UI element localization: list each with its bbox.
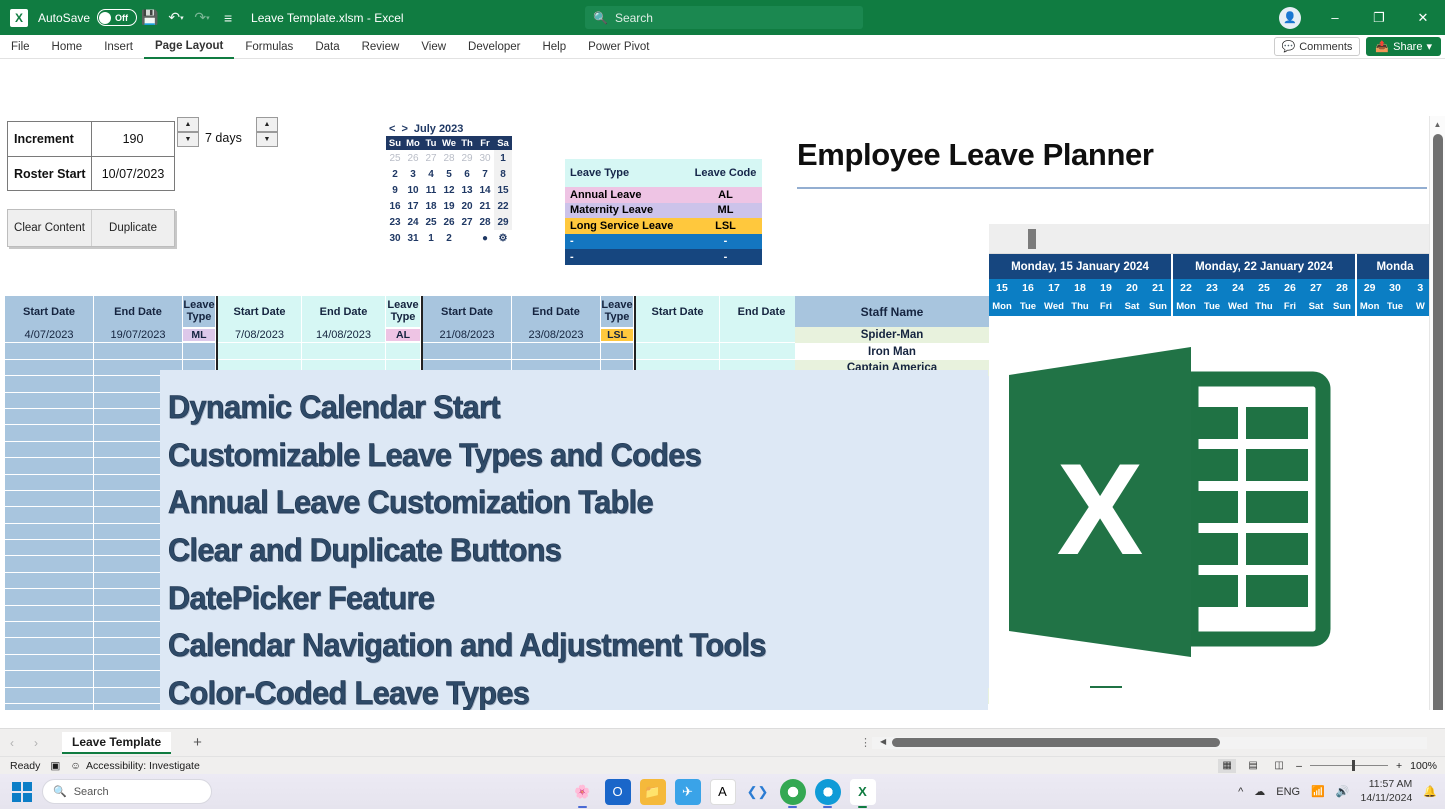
tab-file[interactable]: File: [0, 35, 41, 59]
legend-header-code: Leave Code: [689, 167, 762, 179]
legend-row[interactable]: Annual LeaveAL: [565, 187, 762, 203]
calendar-day-number: 24: [1225, 279, 1251, 298]
date-picker-day[interactable]: 27: [422, 150, 440, 166]
calendar-day-name: Fri: [1093, 298, 1119, 316]
calendar-day-number: 16: [1015, 279, 1041, 298]
calendar-day-name: Thu: [1067, 298, 1093, 316]
dow-fr: Fr: [476, 136, 494, 150]
comments-label: Comments: [1299, 41, 1352, 53]
grid-header-leave-type: LeaveType: [601, 296, 634, 327]
macro-record-icon[interactable]: ▣: [50, 760, 60, 772]
share-icon: 📤: [1375, 40, 1389, 53]
date-picker-day[interactable]: 21: [476, 198, 494, 214]
status-right: ▦ ▤ ◫ – + 100%: [1218, 759, 1437, 773]
date-picker-day[interactable]: 15: [494, 182, 512, 198]
calendar-day-names: MonTueWedThuFriSatSun: [1173, 298, 1355, 316]
excel-icon[interactable]: X: [850, 779, 876, 805]
date-picker-day[interactable]: 12: [440, 182, 458, 198]
accessibility-status[interactable]: ☺ Accessibility: Investigate: [70, 760, 200, 772]
leave-grid-header: Start DateEnd DateLeaveTypeStart DateEnd…: [5, 296, 839, 327]
calendar-day-numbers: 15161718192021: [989, 279, 1171, 298]
title-divider: [797, 187, 1427, 189]
action-buttons: Clear Content Duplicate: [7, 209, 175, 247]
legend-leave-type: Long Service Leave: [565, 220, 689, 232]
grid-row[interactable]: [5, 343, 839, 359]
legend-rows: Annual LeaveALMaternity LeaveMLLong Serv…: [565, 187, 762, 265]
roster-start-value[interactable]: 10/07/2023: [92, 157, 174, 190]
staff-name-row[interactable]: Spider-Man: [795, 327, 989, 343]
calendar-day-name: Mon: [989, 298, 1015, 316]
grid-header-cell: End Date: [720, 296, 804, 327]
date-picker-day[interactable]: 27: [458, 214, 476, 230]
feature-item: Annual Leave Customization Table: [168, 479, 955, 527]
onedrive-icon[interactable]: ☁: [1254, 785, 1265, 798]
feature-item: Color-Coded Leave Types: [168, 670, 955, 710]
grid-cell[interactable]: [5, 491, 94, 507]
grid-cell-leave-type[interactable]: [386, 343, 421, 359]
spinner-down-icon[interactable]: ▼: [256, 132, 278, 147]
grid-header-leave-type: LeaveType: [386, 296, 421, 327]
search-input[interactable]: Search: [615, 11, 653, 25]
accessibility-icon: ☺: [70, 760, 81, 772]
grid-row[interactable]: 4/07/202319/07/2023ML7/08/202314/08/2023…: [5, 327, 839, 343]
grid-cell[interactable]: 19/07/2023: [94, 327, 183, 343]
dow-tu: Tu: [422, 136, 440, 150]
search-icon: 🔍: [593, 11, 608, 25]
grid-cell[interactable]: [5, 655, 94, 671]
date-picker-month-year: July 2023: [414, 123, 464, 135]
grid-header-cell: End Date: [512, 296, 601, 327]
grid-header-cell: Start Date: [5, 296, 94, 327]
grid-cell[interactable]: [5, 606, 94, 622]
days-label: 7 days: [205, 131, 242, 145]
next-month-icon[interactable]: >: [401, 123, 407, 135]
increment-value[interactable]: 190: [92, 122, 174, 156]
date-picker-day[interactable]: 16: [386, 198, 404, 214]
legend-leave-type: Annual Leave: [565, 189, 689, 201]
windows-taskbar: 🔍 Search 🌸 O 📁 ✈ A ❮❯ X ^ ☁ ENG 📶 🔊 11:5…: [0, 774, 1445, 809]
close-button[interactable]: ✕: [1401, 0, 1445, 35]
outlook-icon[interactable]: O: [605, 779, 631, 805]
hscroll-left-icon[interactable]: ◀: [880, 737, 886, 746]
grid-cell[interactable]: 14/08/2023: [302, 327, 386, 343]
vertical-scroll-thumb[interactable]: [1433, 134, 1443, 710]
legend-row[interactable]: Long Service LeaveLSL: [565, 218, 762, 234]
date-picker-day[interactable]: 3: [404, 166, 422, 182]
tab-formulas[interactable]: Formulas: [234, 35, 304, 59]
calendar-day-name: Sat: [1303, 298, 1329, 316]
date-picker-day[interactable]: 31: [404, 230, 422, 246]
grid-header-cell: Start Date: [423, 296, 512, 327]
calendar-week: Monda29303MonTueW: [1357, 254, 1435, 316]
parameter-table: Increment 190 Roster Start 10/07/2023: [7, 121, 175, 191]
horizontal-scroll-thumb[interactable]: [892, 738, 1220, 747]
grid-cell[interactable]: [720, 343, 804, 359]
staff-name-row[interactable]: Iron Man: [795, 343, 989, 359]
grid-header-leave-type: LeaveType: [183, 296, 216, 327]
date-picker-day[interactable]: 23: [386, 214, 404, 230]
grid-cell[interactable]: [5, 704, 94, 710]
grid-cell[interactable]: [636, 343, 720, 359]
dow-sa: Sa: [494, 136, 512, 150]
date-picker-day[interactable]: 25: [422, 214, 440, 230]
status-ready: Ready: [10, 760, 40, 772]
clock-date: 14/11/2024: [1361, 792, 1413, 805]
date-picker-day[interactable]: 30: [476, 150, 494, 166]
date-picker-day[interactable]: 2: [440, 230, 458, 246]
legend-row[interactable]: --: [565, 249, 762, 265]
date-picker-day[interactable]: 29: [494, 214, 512, 230]
calendar-scroll-handle[interactable]: [1028, 229, 1036, 249]
grid-cell-leave-type[interactable]: AL: [386, 327, 421, 343]
date-picker-day[interactable]: 26: [404, 150, 422, 166]
grid-cell[interactable]: 7/08/2023: [218, 327, 302, 343]
system-tray: ^ ☁ ENG 📶 🔊 11:57 AM 14/11/2024 🔔: [1238, 778, 1437, 804]
date-picker-day[interactable]: 30: [386, 230, 404, 246]
scroll-grip-icon[interactable]: ⋮: [860, 736, 871, 749]
next-sheet-icon[interactable]: ›: [24, 736, 48, 750]
chrome-icon[interactable]: [780, 779, 806, 805]
legend-header: Leave Type Leave Code: [565, 159, 762, 187]
zoom-in-button[interactable]: +: [1396, 760, 1402, 772]
date-picker-day[interactable]: 18: [422, 198, 440, 214]
calendar-day-number: 22: [1173, 279, 1199, 298]
document-title: Leave Template.xlsm - Excel: [251, 11, 404, 25]
vscode-icon[interactable]: ❮❯: [745, 779, 771, 805]
comments-button[interactable]: 💬 Comments: [1274, 37, 1361, 56]
date-picker-day[interactable]: 4: [422, 166, 440, 182]
calendar-day-name: Tue: [1382, 298, 1407, 316]
grid-cell[interactable]: [5, 589, 94, 605]
telegram-icon[interactable]: ✈: [675, 779, 701, 805]
grid-cell[interactable]: [5, 393, 94, 409]
feature-item: Dynamic Calendar Start: [168, 384, 955, 432]
ribbon-tabs: File Home Insert Page Layout Formulas Da…: [0, 35, 1445, 59]
calendar-day-name: Mon: [1357, 298, 1382, 316]
increment-spinner[interactable]: ▲ ▼: [177, 117, 199, 147]
date-picker-day[interactable]: 2: [386, 166, 404, 182]
legend-leave-code: ML: [689, 204, 762, 216]
file-explorer-icon[interactable]: 📁: [640, 779, 666, 805]
calendar-day-name: Tue: [1199, 298, 1225, 316]
date-picker-day[interactable]: 9: [386, 182, 404, 198]
sheet-tab-leave-template[interactable]: Leave Template: [62, 732, 171, 754]
calendar-day-number: 18: [1067, 279, 1093, 298]
date-picker-day[interactable]: 1: [422, 230, 440, 246]
grid-cell[interactable]: [512, 343, 601, 359]
tray-chevron-icon[interactable]: ^: [1238, 786, 1243, 798]
spinner-up-icon[interactable]: ▲: [177, 117, 199, 132]
feature-list: Dynamic Calendar StartCustomizable Leave…: [168, 384, 988, 710]
tab-page-layout[interactable]: Page Layout: [144, 35, 234, 59]
grid-cell[interactable]: [5, 540, 94, 556]
zoom-slider[interactable]: [1310, 765, 1388, 766]
grid-cell[interactable]: 21/08/2023: [423, 327, 512, 343]
calendar-week-columns: Monday, 15 January 202415161718192021Mon…: [989, 254, 1440, 316]
legend-row[interactable]: Maternity LeaveML: [565, 203, 762, 219]
calendar-day-name: Wed: [1041, 298, 1067, 316]
date-picker-day[interactable]: [458, 230, 476, 246]
status-bar: Ready ▣ ☺ Accessibility: Investigate ▦ ▤…: [0, 756, 1445, 774]
grid-header-cell: Start Date: [218, 296, 302, 327]
excel-logo-graphic: X: [995, 339, 1351, 679]
date-picker-day[interactable]: 28: [476, 214, 494, 230]
clock[interactable]: 11:57 AM 14/11/2024: [1361, 778, 1413, 804]
wifi-icon[interactable]: 📶: [1311, 785, 1325, 798]
window-controls: 👤 – ❐ ✕: [1279, 0, 1445, 35]
date-picker-day[interactable]: 29: [458, 150, 476, 166]
leave-type-legend: Leave Type Leave Code Annual LeaveALMate…: [565, 159, 762, 265]
customize-quick-access-icon[interactable]: ≡: [215, 5, 241, 31]
maximize-button[interactable]: ❐: [1357, 0, 1401, 35]
minimize-button[interactable]: –: [1313, 0, 1357, 35]
calendar-day-name: Sun: [1145, 298, 1171, 316]
spinner-down-icon[interactable]: ▼: [177, 132, 199, 147]
calendar-day-numbers: 22232425262728: [1173, 279, 1355, 298]
tab-help[interactable]: Help: [531, 35, 577, 59]
grid-cell-leave-type[interactable]: [183, 343, 216, 359]
grid-cell[interactable]: [5, 524, 94, 540]
legend-leave-type: Maternity Leave: [565, 204, 689, 216]
date-picker-header: < > July 2023: [386, 122, 512, 136]
page-layout-view-icon[interactable]: ▤: [1244, 759, 1262, 773]
grid-cell[interactable]: [720, 327, 804, 343]
roster-start-row: Roster Start 10/07/2023: [8, 156, 174, 190]
tab-data[interactable]: Data: [304, 35, 350, 59]
dow-th: Th: [458, 136, 476, 150]
dow-we: We: [440, 136, 458, 150]
accessibility-label: Accessibility: Investigate: [86, 760, 200, 772]
excel-logo-svg: X: [995, 339, 1351, 679]
scroll-up-icon[interactable]: ▲: [1430, 116, 1445, 132]
grid-cell[interactable]: [5, 360, 94, 376]
calendar-day-names: MonTueWedThuFriSatSun: [989, 298, 1171, 316]
feature-item: DatePicker Feature: [168, 575, 955, 623]
volume-icon[interactable]: 🔊: [1336, 785, 1350, 798]
legend-leave-code: AL: [689, 189, 762, 201]
calendar-week-title: Monday, 15 January 2024: [989, 254, 1171, 279]
edge-icon[interactable]: [815, 779, 841, 805]
duplicate-button[interactable]: Duplicate: [91, 210, 174, 246]
tab-review[interactable]: Review: [351, 35, 411, 59]
autosave-state: Off: [115, 13, 128, 23]
calendar-day-number: 17: [1041, 279, 1067, 298]
date-picker-day[interactable]: 17: [404, 198, 422, 214]
copilot-icon[interactable]: 🌸: [570, 779, 596, 805]
date-picker-day[interactable]: 26: [440, 214, 458, 230]
calendar-day-name: Thu: [1251, 298, 1277, 316]
calendar-day-number: 15: [989, 279, 1015, 298]
date-picker-dow: Su Mo Tu We Th Fr Sa: [386, 136, 512, 150]
grid-cell[interactable]: [5, 671, 94, 687]
calendar-day-name: Wed: [1225, 298, 1251, 316]
share-button[interactable]: 📤 Share ▾: [1366, 37, 1441, 56]
date-picker-day[interactable]: 7: [476, 166, 494, 182]
date-picker-day[interactable]: 13: [458, 182, 476, 198]
roster-start-label: Roster Start: [8, 157, 92, 190]
days-spinner[interactable]: ▲ ▼: [256, 117, 278, 147]
zoom-level[interactable]: 100%: [1410, 760, 1437, 772]
search-icon: 🔍: [53, 785, 67, 798]
right-calendar[interactable]: Monday, 15 January 202415161718192021Mon…: [989, 224, 1440, 316]
undo-icon[interactable]: ↶▾: [163, 5, 189, 31]
grid-cell-leave-type[interactable]: LSL: [601, 327, 634, 343]
grid-cell[interactable]: [423, 343, 512, 359]
grid-cell[interactable]: [5, 507, 94, 523]
redo-icon[interactable]: ↷▾: [189, 5, 215, 31]
calendar-day-number: 20: [1119, 279, 1145, 298]
horizontal-scrollbar[interactable]: ◀: [872, 737, 1427, 749]
page-break-view-icon[interactable]: ◫: [1270, 759, 1288, 773]
excel-icon: X: [10, 9, 28, 27]
calendar-week-title: Monday, 22 January 2024: [1173, 254, 1355, 279]
tab-insert[interactable]: Insert: [93, 35, 144, 59]
grid-cell[interactable]: [5, 409, 94, 425]
legend-leave-code: -: [689, 251, 762, 263]
date-picker-day[interactable]: 10: [404, 182, 422, 198]
date-picker-day[interactable]: 25: [386, 150, 404, 166]
legend-leave-code: LSL: [689, 220, 762, 232]
language-indicator[interactable]: ENG: [1276, 786, 1300, 798]
grid-cell[interactable]: [94, 343, 183, 359]
toggle-knob: [99, 12, 111, 24]
calendar-day-number: 26: [1277, 279, 1303, 298]
feature-overlay: Dynamic Calendar StartCustomizable Leave…: [160, 370, 988, 710]
grid-cell[interactable]: [5, 425, 94, 441]
grid-cell[interactable]: [5, 638, 94, 654]
worksheet-area[interactable]: Increment 190 Roster Start 10/07/2023 ▲ …: [0, 59, 1445, 710]
autosave-label: AutoSave: [38, 11, 90, 25]
legend-row[interactable]: --: [565, 234, 762, 250]
calendar-day-name: Sat: [1119, 298, 1145, 316]
date-picker-footer[interactable]: 303112●⚙: [386, 230, 512, 246]
tab-developer[interactable]: Developer: [457, 35, 531, 59]
tab-power-pivot[interactable]: Power Pivot: [577, 35, 660, 59]
date-picker-day[interactable]: 24: [404, 214, 422, 230]
anaconda-icon[interactable]: A: [710, 779, 736, 805]
grid-cell[interactable]: [218, 343, 302, 359]
tab-view[interactable]: View: [410, 35, 457, 59]
zoom-out-button[interactable]: –: [1296, 760, 1302, 772]
zoom-slider-knob[interactable]: [1352, 760, 1355, 771]
calendar-week: Monday, 22 January 202422232425262728Mon…: [1173, 254, 1357, 316]
grid-cell[interactable]: [5, 688, 94, 704]
legend-leave-type: -: [565, 251, 689, 263]
date-picker-day[interactable]: 6: [458, 166, 476, 182]
date-picker-today-icon[interactable]: ●: [476, 230, 494, 246]
calendar-day-number: 21: [1145, 279, 1171, 298]
comment-icon: 💬: [1282, 40, 1296, 53]
normal-view-icon[interactable]: ▦: [1218, 759, 1236, 773]
prev-month-icon[interactable]: <: [389, 123, 395, 135]
date-picker-day[interactable]: 19: [440, 198, 458, 214]
date-picker-day[interactable]: 14: [476, 182, 494, 198]
avatar[interactable]: 👤: [1279, 7, 1301, 29]
calendar-day-name: Mon: [1173, 298, 1199, 316]
search-box[interactable]: 🔍 Search: [585, 6, 863, 29]
increment-label: Increment: [8, 122, 92, 156]
date-picker-day[interactable]: 8: [494, 166, 512, 182]
grid-cell[interactable]: [5, 556, 94, 572]
calendar-day-number: 27: [1303, 279, 1329, 298]
date-picker-day[interactable]: 5: [440, 166, 458, 182]
date-picker-day[interactable]: 1: [494, 150, 512, 166]
save-icon[interactable]: 💾: [137, 5, 163, 31]
calendar-day-numbers: 29303: [1357, 279, 1433, 298]
tab-home[interactable]: Home: [41, 35, 94, 59]
grid-cell[interactable]: [5, 458, 94, 474]
calendar-day-name: Fri: [1277, 298, 1303, 316]
grid-header-cell: End Date: [94, 296, 183, 327]
calendar-day-number: 19: [1093, 279, 1119, 298]
calendar-day-number: 30: [1382, 279, 1407, 298]
taskbar-search[interactable]: 🔍 Search: [42, 779, 212, 804]
calendar-day-name: Tue: [1015, 298, 1041, 316]
legend-leave-type: -: [565, 235, 689, 247]
dow-mo: Mo: [404, 136, 422, 150]
chevron-down-icon: ▾: [1426, 40, 1432, 53]
legend-leave-code: -: [689, 235, 762, 247]
calendar-day-number: 28: [1329, 279, 1355, 298]
grid-cell-leave-type[interactable]: [601, 343, 634, 359]
clock-time: 11:57 AM: [1361, 778, 1413, 791]
calendar-day-number: 29: [1357, 279, 1382, 298]
calendar-top-strip: [989, 224, 1440, 254]
feature-item: Customizable Leave Types and Codes: [168, 432, 955, 480]
grid-cell[interactable]: 23/08/2023: [512, 327, 601, 343]
increment-row: Increment 190: [8, 122, 174, 156]
grid-cell[interactable]: [5, 343, 94, 359]
grid-header-cell: Start Date: [636, 296, 720, 327]
date-picker-day[interactable]: 11: [422, 182, 440, 198]
date-picker-day[interactable]: 28: [440, 150, 458, 166]
clear-content-button[interactable]: Clear Content: [8, 210, 91, 246]
grid-cell[interactable]: [5, 376, 94, 392]
spinner-up-icon[interactable]: ▲: [256, 117, 278, 132]
calendar-day-names: MonTueW: [1357, 298, 1433, 316]
bell-icon[interactable]: 🔔: [1423, 785, 1437, 798]
date-picker-day[interactable]: 22: [494, 198, 512, 214]
svg-text:X: X: [1057, 436, 1144, 582]
grid-cell[interactable]: [636, 327, 720, 343]
legend-header-type: Leave Type: [565, 167, 689, 179]
grid-cell[interactable]: [5, 622, 94, 638]
start-button-icon[interactable]: [12, 782, 32, 802]
grid-cell[interactable]: [5, 573, 94, 589]
date-picker-day[interactable]: 20: [458, 198, 476, 214]
calendar-week-title: Monda: [1357, 254, 1433, 279]
grid-cell[interactable]: [302, 343, 386, 359]
prev-sheet-icon[interactable]: ‹: [0, 736, 24, 750]
staff-name-header: Staff Name: [795, 296, 989, 327]
autosave-toggle[interactable]: Off: [97, 9, 137, 26]
add-sheet-button[interactable]: +: [193, 734, 202, 751]
vertical-scrollbar[interactable]: ▲ ▼: [1429, 116, 1445, 710]
date-picker[interactable]: < > July 2023 Su Mo Tu We Th Fr Sa 25262…: [386, 122, 512, 246]
feature-item: Calendar Navigation and Adjustment Tools: [168, 622, 955, 670]
date-picker-settings-icon[interactable]: ⚙: [494, 230, 512, 246]
grid-cell[interactable]: [5, 475, 94, 491]
date-picker-grid[interactable]: 2526272829301234567891011121314151617181…: [386, 150, 512, 230]
grid-cell-leave-type[interactable]: ML: [183, 327, 216, 343]
grid-cell[interactable]: [5, 442, 94, 458]
feature-item: Clear and Duplicate Buttons: [168, 527, 955, 575]
calendar-day-number: 23: [1199, 279, 1225, 298]
logo-underline: [1090, 686, 1122, 688]
title-bar: X AutoSave Off 💾 ↶▾ ↷▾ ≡ Leave Template.…: [0, 0, 1445, 35]
grid-cell[interactable]: 4/07/2023: [5, 327, 94, 343]
calendar-day-name: Sun: [1329, 298, 1355, 316]
